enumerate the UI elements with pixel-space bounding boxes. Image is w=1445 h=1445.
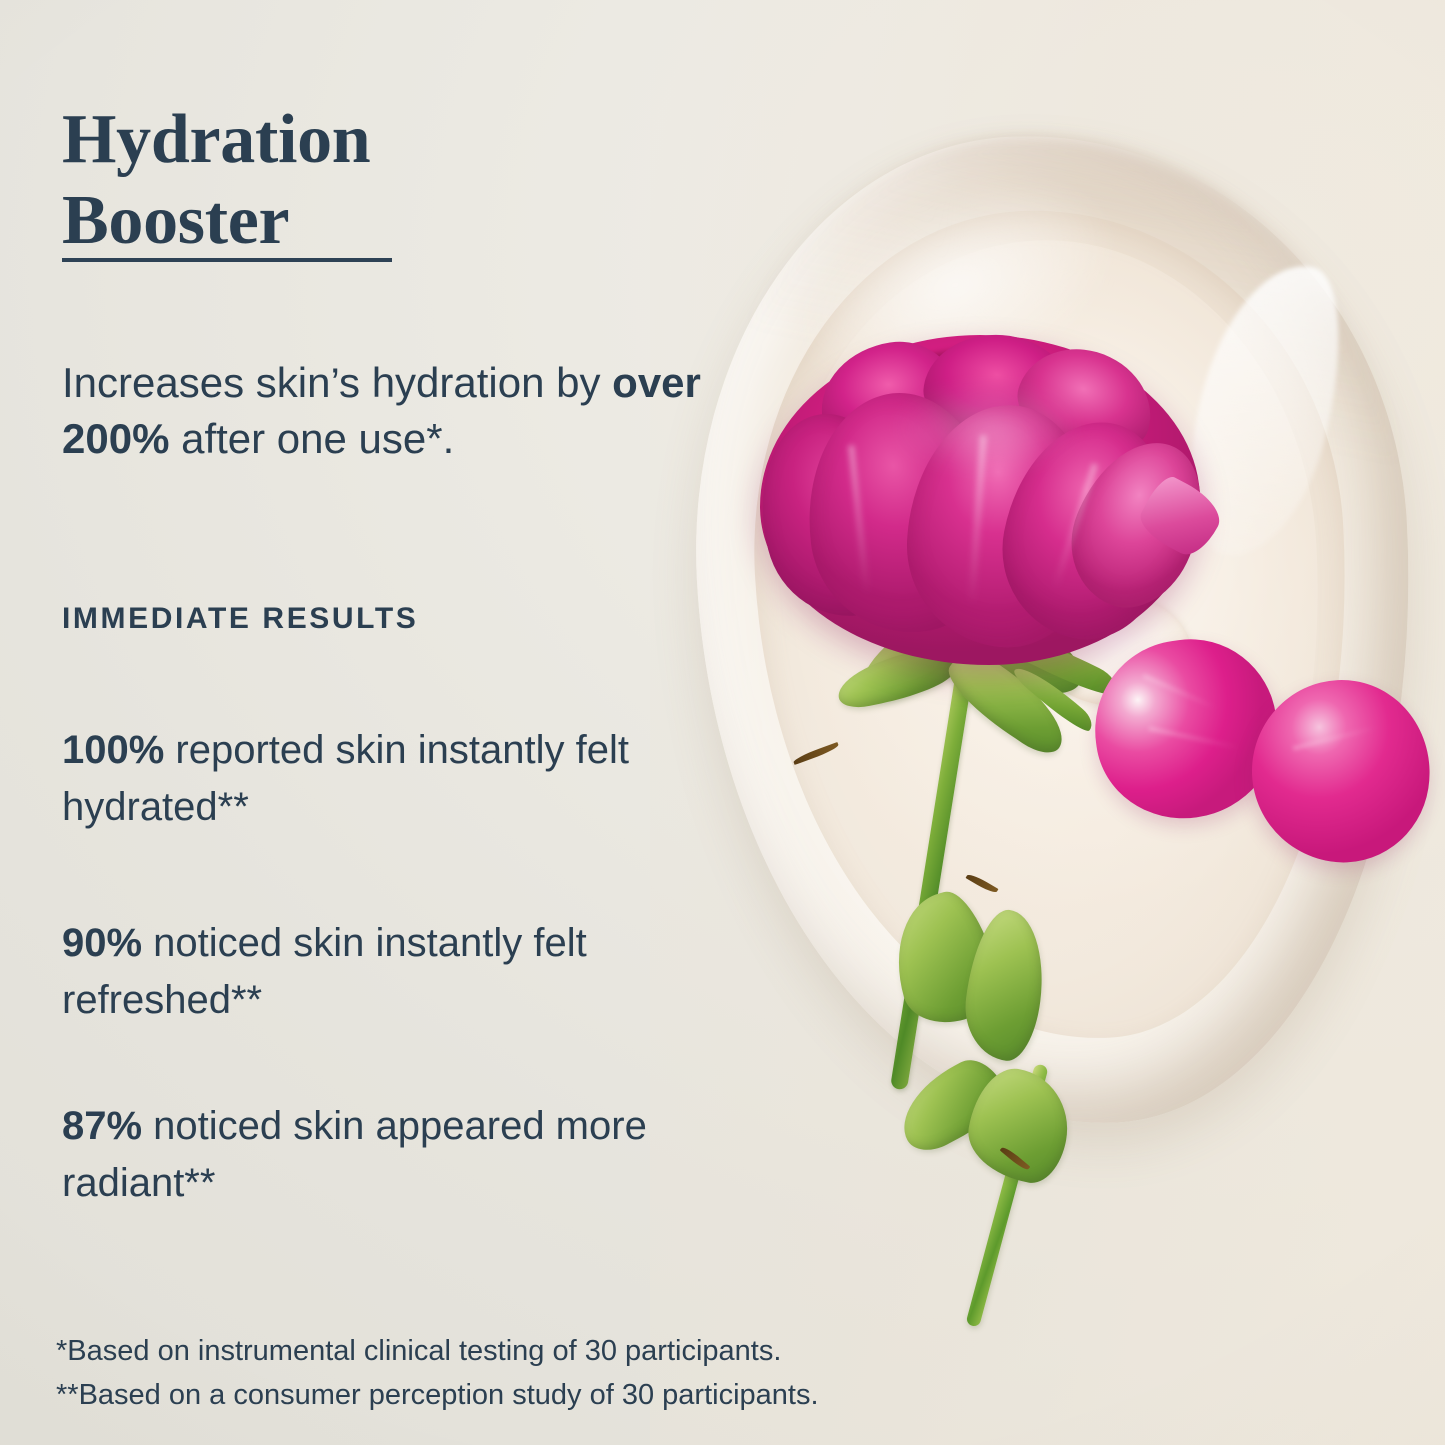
footnotes: *Based on instrumental clinical testing … bbox=[56, 1330, 819, 1417]
rose-highlight bbox=[892, 383, 1082, 473]
product-benefit-card: Hydration Booster Increases skin’s hydra… bbox=[0, 0, 1445, 1445]
footnote-double-asterisk: **Based on a consumer perception study o… bbox=[56, 1374, 819, 1418]
subheadline-lead: Increases skin’s hydration by bbox=[62, 359, 612, 406]
result-stat-text: noticed skin appeared more radiant** bbox=[62, 1104, 647, 1205]
result-stat-value: 90% bbox=[62, 921, 142, 965]
title-divider bbox=[62, 258, 392, 262]
rose-bloom bbox=[760, 335, 1200, 665]
result-stat-value: 100% bbox=[62, 728, 164, 772]
result-stat: 100% reported skin instantly felt hydrat… bbox=[62, 722, 762, 836]
section-label-immediate-results: IMMEDIATE RESULTS bbox=[62, 602, 418, 636]
subheadline: Increases skin’s hydration by over 200% … bbox=[62, 355, 762, 467]
page-title: Hydration Booster bbox=[62, 99, 522, 261]
result-stat: 87% noticed skin appeared more radiant** bbox=[62, 1098, 762, 1212]
result-stat-value: 87% bbox=[62, 1104, 142, 1148]
footnote-single-asterisk: *Based on instrumental clinical testing … bbox=[56, 1330, 819, 1374]
text-column: Hydration Booster Increases skin’s hydra… bbox=[0, 0, 760, 1445]
subheadline-tail: after one use*. bbox=[169, 415, 454, 462]
result-stat: 90% noticed skin instantly felt refreshe… bbox=[62, 915, 762, 1029]
